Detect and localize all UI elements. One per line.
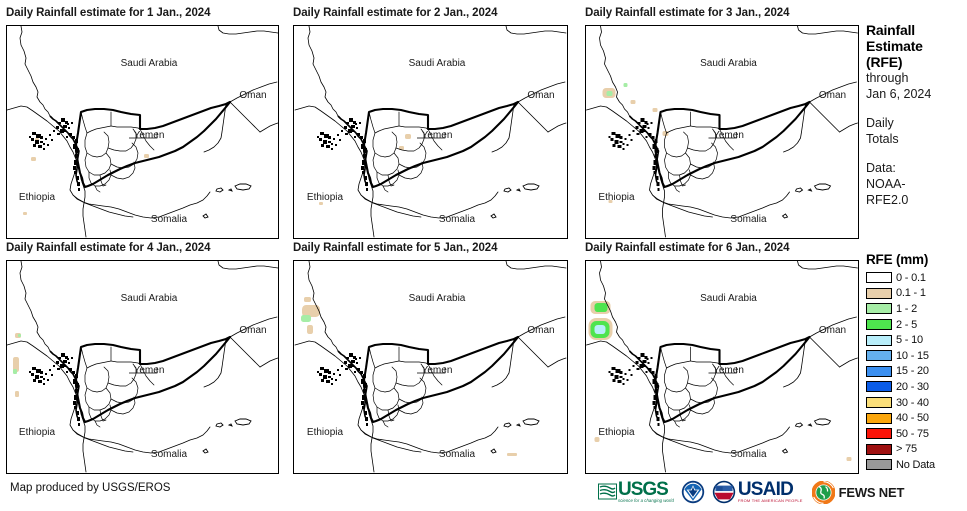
legend-title: RFE (mm) [866,252,967,267]
usgs-tagline: science for a changing world [618,498,674,503]
legend-row: 1 - 2 [866,301,967,317]
label-yemen: Yemen [422,130,453,141]
usgs-wordmark: USGS [618,481,674,498]
side-data-line2: NOAA- [866,176,966,192]
legend-label: 0.1 - 1 [896,287,926,299]
legend-label: 20 - 30 [896,381,929,393]
label-oman: Oman [239,90,266,101]
legend-label: 15 - 20 [896,365,929,377]
legend-row: 0.1 - 1 [866,286,967,302]
label-somalia: Somalia [439,214,476,225]
legend-swatch [866,428,892,439]
label-saudi-arabia: Saudi Arabia [409,58,466,69]
usgs-logo[interactable]: USGS science for a changing world [598,478,674,506]
label-somalia: Somalia [730,214,767,225]
legend-row: 15 - 20 [866,364,967,380]
legend-swatch [866,444,892,455]
legend-label: 10 - 15 [896,350,929,362]
legend-swatch [866,366,892,377]
side-period-line2: Totals [866,131,966,147]
label-somalia: Somalia [439,449,476,460]
legend-label: > 75 [896,443,917,455]
legend-swatch [866,335,892,346]
map-svg-6: Saudi ArabiaOmanYemenEthiopiaSomalia [586,261,858,473]
label-oman: Oman [527,90,554,101]
map-panel-4: Daily Rainfall estimate for 4 Jan., 2024… [6,241,279,474]
legend-swatch [866,350,892,361]
map-frame[interactable]: Saudi ArabiaOmanYemenEthiopiaSomalia [6,25,279,239]
usaid-tagline: FROM THE AMERICAN PEOPLE [738,498,803,503]
legend-row: 20 - 30 [866,379,967,395]
label-yemen: Yemen [422,365,453,376]
legend-swatch [866,319,892,330]
legend-label: 5 - 10 [896,334,923,346]
legend-row: 2 - 5 [866,317,967,333]
legend-swatch [866,288,892,299]
legend-label: 0 - 0.1 [896,272,926,284]
side-info-block: Rainfall Estimate (RFE) through Jan 6, 2… [866,22,966,208]
legend-row: 40 - 50 [866,410,967,426]
legend-swatch [866,303,892,314]
side-title-line2: Estimate [866,38,966,54]
legend-swatch [866,413,892,424]
legend-row: 10 - 15 [866,348,967,364]
label-saudi-arabia: Saudi Arabia [700,58,757,69]
label-yemen: Yemen [134,130,165,141]
rainfall-estimate-map-page: Daily Rainfall estimate for 1 Jan., 2024… [0,0,967,511]
label-somalia: Somalia [151,449,188,460]
label-ethiopia: Ethiopia [307,192,344,203]
legend-swatch [866,272,892,283]
map-frame[interactable]: Saudi ArabiaOmanYemenEthiopiaSomalia [585,260,859,474]
map-panel-3: Daily Rainfall estimate for 3 Jan., 2024… [585,6,859,239]
map-panel-2: Daily Rainfall estimate for 2 Jan., 2024… [293,6,568,239]
legend-row: 50 - 75 [866,426,967,442]
fews-net-wordmark: FEWS NET [839,485,905,500]
map-frame[interactable]: Saudi ArabiaOmanYemenEthiopiaSomalia [293,25,568,239]
legend: RFE (mm) 0 - 0.10.1 - 11 - 22 - 55 - 101… [866,252,967,473]
label-saudi-arabia: Saudi Arabia [700,293,757,304]
map-svg-5: Saudi ArabiaOmanYemenEthiopiaSomalia [294,261,567,473]
label-saudi-arabia: Saudi Arabia [121,293,178,304]
label-ethiopia: Ethiopia [598,427,635,438]
map-credit: Map produced by USGS/EROS [10,482,170,494]
map-frame[interactable]: Saudi ArabiaOmanYemenEthiopiaSomalia [6,260,279,474]
panel-title: Daily Rainfall estimate for 4 Jan., 2024 [6,241,279,257]
legend-swatch [866,459,892,470]
side-data-line1: Data: [866,160,966,176]
map-frame[interactable]: Saudi ArabiaOmanYemenEthiopiaSomalia [585,25,859,239]
usaid-wordmark: USAID [738,481,803,498]
map-frame[interactable]: Saudi ArabiaOmanYemenEthiopiaSomalia [293,260,568,474]
usgs-wave-icon [598,483,617,501]
side-title-line1: Rainfall [866,22,966,38]
label-yemen: Yemen [713,130,744,141]
side-data-line3: RFE2.0 [866,192,966,208]
fews-net-globe-icon [812,481,835,504]
usaid-logo[interactable]: USAID FROM THE AMERICAN PEOPLE [712,478,803,506]
noaa-seal-icon [681,480,705,504]
panel-title: Daily Rainfall estimate for 3 Jan., 2024 [585,6,859,22]
legend-row: No Data [866,457,967,473]
legend-label: 1 - 2 [896,303,917,315]
panel-title: Daily Rainfall estimate for 1 Jan., 2024 [6,6,279,22]
label-oman: Oman [239,325,266,336]
fews-net-logo[interactable]: FEWS NET [812,478,905,506]
label-saudi-arabia: Saudi Arabia [121,58,178,69]
label-oman: Oman [819,90,846,101]
label-saudi-arabia: Saudi Arabia [409,293,466,304]
legend-swatch [866,397,892,408]
map-panel-5: Daily Rainfall estimate for 5 Jan., 2024… [293,241,568,474]
label-ethiopia: Ethiopia [598,192,635,203]
map-svg-2: Saudi ArabiaOmanYemenEthiopiaSomalia [294,26,567,238]
map-panel-1: Daily Rainfall estimate for 1 Jan., 2024… [6,6,279,239]
usaid-seal-icon [712,480,736,504]
label-somalia: Somalia [151,214,188,225]
side-period-line1: Daily [866,115,966,131]
side-title-line3: (RFE) [866,54,966,70]
legend-label: 50 - 75 [896,428,929,440]
label-yemen: Yemen [134,365,165,376]
legend-label: 40 - 50 [896,412,929,424]
label-oman: Oman [527,325,554,336]
map-svg-1: Saudi ArabiaOmanYemenEthiopiaSomalia [7,26,278,238]
label-ethiopia: Ethiopia [307,427,344,438]
noaa-logo[interactable] [681,478,705,506]
legend-label: 30 - 40 [896,397,929,409]
side-date: Jan 6, 2024 [866,86,966,102]
logo-strip: USGS science for a changing world [598,477,904,507]
side-through-label: through [866,70,966,86]
legend-rows: 0 - 0.10.1 - 11 - 22 - 55 - 1010 - 1515 … [866,270,967,473]
panel-title: Daily Rainfall estimate for 6 Jan., 2024 [585,241,859,257]
legend-row: > 75 [866,442,967,458]
map-svg-4: Saudi ArabiaOmanYemenEthiopiaSomalia [7,261,278,473]
panel-title: Daily Rainfall estimate for 5 Jan., 2024 [293,241,568,257]
legend-label: No Data [896,459,935,471]
legend-row: 0 - 0.1 [866,270,967,286]
label-yemen: Yemen [713,365,744,376]
map-panel-6: Daily Rainfall estimate for 6 Jan., 2024… [585,241,859,474]
legend-label: 2 - 5 [896,319,917,331]
label-ethiopia: Ethiopia [19,427,56,438]
map-svg-3: Saudi ArabiaOmanYemenEthiopiaSomalia [586,26,858,238]
panel-title: Daily Rainfall estimate for 2 Jan., 2024 [293,6,568,22]
legend-row: 30 - 40 [866,395,967,411]
legend-row: 5 - 10 [866,332,967,348]
label-oman: Oman [819,325,846,336]
label-somalia: Somalia [730,449,767,460]
label-ethiopia: Ethiopia [19,192,56,203]
legend-swatch [866,381,892,392]
